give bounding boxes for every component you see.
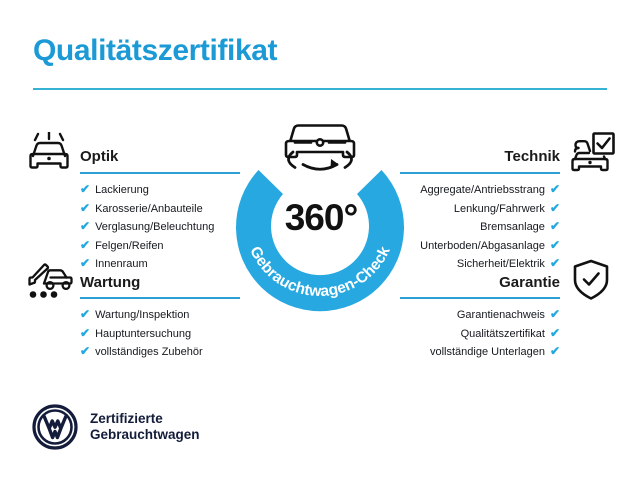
checklist-item: ✔vollständiges Zubehör: [80, 343, 203, 362]
checklist-item-label: vollständige Unterlagen: [430, 346, 545, 358]
checklist-item-label: Lackierung: [95, 184, 149, 196]
page-title: Qualitätszertifikat: [33, 34, 277, 68]
checklist-garantie: Garantienachweis✔Qualitätszertifikat✔vol…: [430, 306, 560, 362]
checklist-item-label: Sicherheit/Elektrik: [457, 258, 545, 270]
checklist-item: ✔Felgen/Reifen: [80, 237, 214, 256]
checklist-item: ✔Wartung/Inspektion: [80, 306, 203, 325]
section-divider-wartung: [80, 297, 240, 299]
checklist-item: Lenkung/Fahrwerk✔: [420, 200, 560, 219]
checklist-item-label: vollständiges Zubehör: [95, 346, 203, 358]
checklist-item: Unterboden/Abgasanlage✔: [420, 237, 560, 256]
shield-check-icon: [570, 258, 612, 307]
check-icon: ✔: [550, 344, 560, 358]
checklist-item: ✔Lackierung: [80, 181, 214, 200]
checklist-technik: Aggregate/Antriebsstrang✔Lenkung/Fahrwer…: [420, 181, 560, 274]
vw-logo: [32, 404, 78, 450]
footer-line-1: Zertifizierte: [90, 411, 200, 427]
checklist-item-label: Hauptuntersuchung: [95, 328, 191, 340]
checklist-item: ✔Verglasung/Beleuchtung: [80, 218, 214, 237]
checklist-item-label: Bremsanlage: [480, 221, 545, 233]
check-icon: ✔: [80, 326, 90, 340]
checklist-item-label: Garantienachweis: [457, 309, 545, 321]
section-divider-garantie: [400, 297, 560, 299]
check-icon: ✔: [550, 256, 560, 270]
check-icon: ✔: [550, 219, 560, 233]
title-divider: [33, 88, 607, 90]
check-icon: ✔: [80, 182, 90, 196]
checklist-item: ✔Hauptuntersuchung: [80, 325, 203, 344]
footer-brand-text: Zertifizierte Gebrauchtwagen: [90, 411, 200, 443]
check-icon: ✔: [550, 307, 560, 321]
check-icon: ✔: [80, 219, 90, 233]
section-title-garantie: Garantie: [499, 274, 560, 291]
check-icon: ✔: [550, 238, 560, 252]
checklist-item: Bremsanlage✔: [420, 218, 560, 237]
section-title-technik: Technik: [504, 148, 560, 165]
section-divider-technik: [400, 172, 560, 174]
checklist-item-label: Karosserie/Anbauteile: [95, 203, 203, 215]
checklist-item: Qualitätszertifikat✔: [430, 325, 560, 344]
checklist-item: ✔Innenraum: [80, 255, 214, 274]
checklist-item-label: Innenraum: [95, 258, 148, 270]
check-icon: ✔: [80, 256, 90, 270]
checklist-item-label: Qualitätszertifikat: [461, 328, 545, 340]
checklist-item-label: Verglasung/Beleuchtung: [95, 221, 214, 233]
checklist-item-label: Lenkung/Fahrwerk: [454, 203, 545, 215]
car-headlights-icon: [26, 132, 72, 179]
checklist-item-label: Aggregate/Antriebsstrang: [420, 184, 545, 196]
checklist-wartung: ✔Wartung/Inspektion✔Hauptuntersuchung✔vo…: [80, 306, 203, 362]
checklist-item-label: Felgen/Reifen: [95, 240, 164, 252]
check-icon: ✔: [550, 201, 560, 215]
check-icon: ✔: [80, 307, 90, 321]
checklist-item: vollständige Unterlagen✔: [430, 343, 560, 362]
check-icon: ✔: [550, 326, 560, 340]
checklist-item: Aggregate/Antriebsstrang✔: [420, 181, 560, 200]
car-checkbox-icon: [568, 131, 616, 178]
check-icon: ✔: [550, 182, 560, 196]
checklist-item: Garantienachweis✔: [430, 306, 560, 325]
certificate-page: Qualitätszertifikat: [0, 0, 640, 480]
footer-brand: Zertifizierte Gebrauchtwagen: [32, 404, 200, 450]
car-service-wrench-icon: [26, 258, 74, 305]
badge-360-gebrauchtwagen-check: Gebrauchtwagen-Check: [224, 112, 416, 312]
section-title-optik: Optik: [80, 148, 118, 165]
checklist-item: ✔Karosserie/Anbauteile: [80, 200, 214, 219]
checklist-item-label: Wartung/Inspektion: [95, 309, 189, 321]
check-icon: ✔: [80, 238, 90, 252]
checklist-item-label: Unterboden/Abgasanlage: [420, 240, 545, 252]
section-title-wartung: Wartung: [80, 274, 140, 291]
checklist-item: Sicherheit/Elektrik✔: [420, 255, 560, 274]
check-icon: ✔: [80, 201, 90, 215]
checklist-optik: ✔Lackierung✔Karosserie/Anbauteile✔Vergla…: [80, 181, 214, 274]
footer-line-2: Gebrauchtwagen: [90, 427, 200, 443]
check-icon: ✔: [80, 344, 90, 358]
section-divider-optik: [80, 172, 240, 174]
